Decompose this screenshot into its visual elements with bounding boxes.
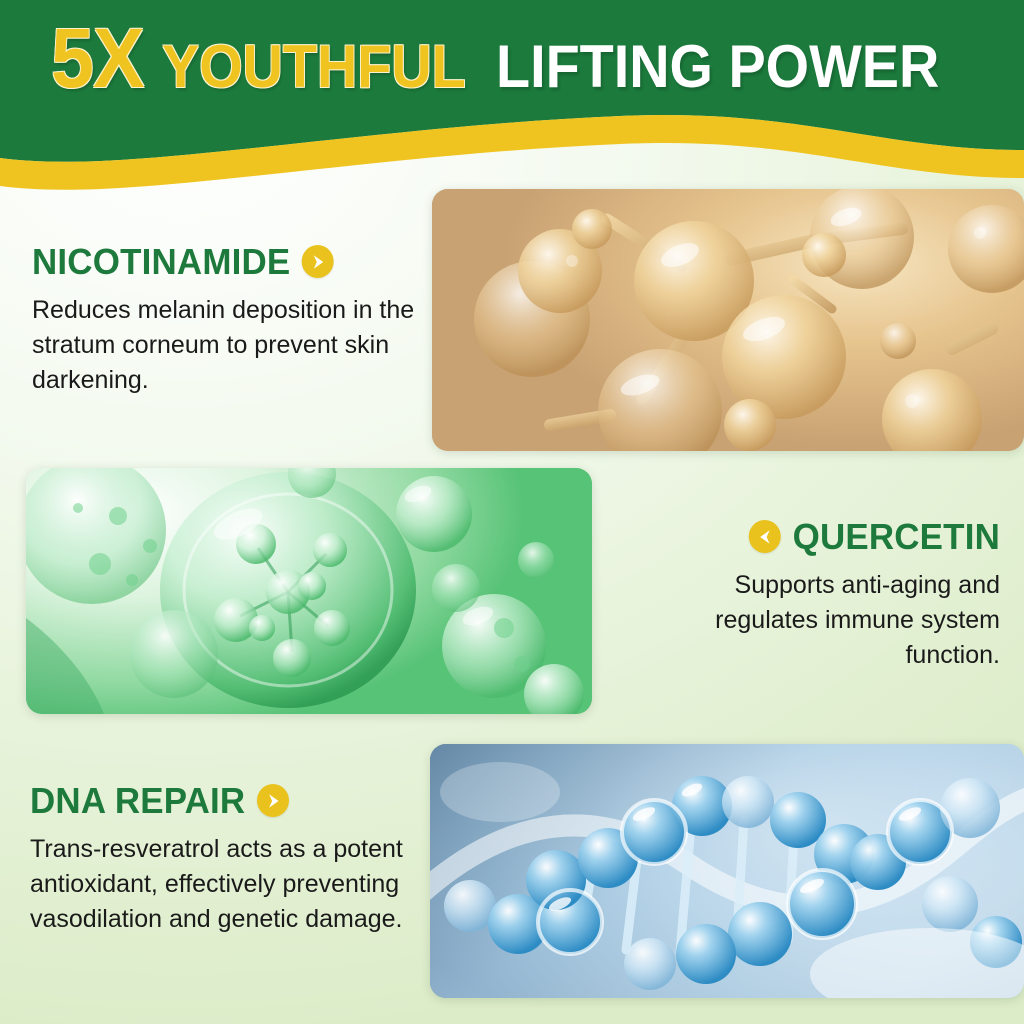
ingredient-description-dna: Trans-resveratrol acts as a potent antio… [30, 832, 410, 937]
ingredient-title-text: DNA REPAIR [30, 782, 245, 820]
ingredient-title-quercetin: QUERCETIN [645, 518, 1000, 556]
ingredient-title-text: QUERCETIN [793, 518, 1000, 556]
ingredient-description-nicotinamide: Reduces melanin deposition in the stratu… [32, 293, 422, 398]
ingredient-title-nicotinamide: NICOTINAMIDE [32, 243, 410, 281]
arrow-left-icon[interactable] [749, 520, 781, 553]
title-highlight: YOUTHFUL [162, 37, 466, 97]
ingredient-block-nicotinamide: NICOTINAMIDE Reduces melanin deposition … [32, 243, 422, 398]
dna-helix-illustration [430, 744, 1024, 998]
infographic-poster: 5XYOUTHFULLIFTING POWER [0, 0, 1024, 1024]
page-title: 5XYOUTHFULLIFTING POWER [0, 16, 1024, 100]
ingredient-title-dna: DNA REPAIR [30, 782, 399, 820]
gold-molecule-illustration [432, 189, 1024, 451]
title-multiplier: 5X [51, 16, 144, 100]
arrow-right-icon[interactable] [257, 784, 289, 817]
ingredient-image-quercetin [26, 468, 592, 714]
ingredient-block-quercetin: QUERCETIN Supports anti-aging and regula… [634, 518, 1000, 673]
ingredient-block-dna: DNA REPAIR Trans-resveratrol acts as a p… [30, 782, 410, 937]
header-banner: 5XYOUTHFULLIFTING POWER [0, 0, 1024, 200]
ingredient-description-quercetin: Supports anti-aging and regulates immune… [634, 568, 1000, 673]
arrow-right-icon[interactable] [302, 245, 334, 278]
title-rest: LIFTING POWER [496, 37, 939, 97]
ingredient-image-dna [430, 744, 1024, 998]
ingredient-image-nicotinamide [432, 189, 1024, 451]
ingredient-title-text: NICOTINAMIDE [32, 243, 290, 281]
green-molecule-illustration [26, 468, 592, 714]
